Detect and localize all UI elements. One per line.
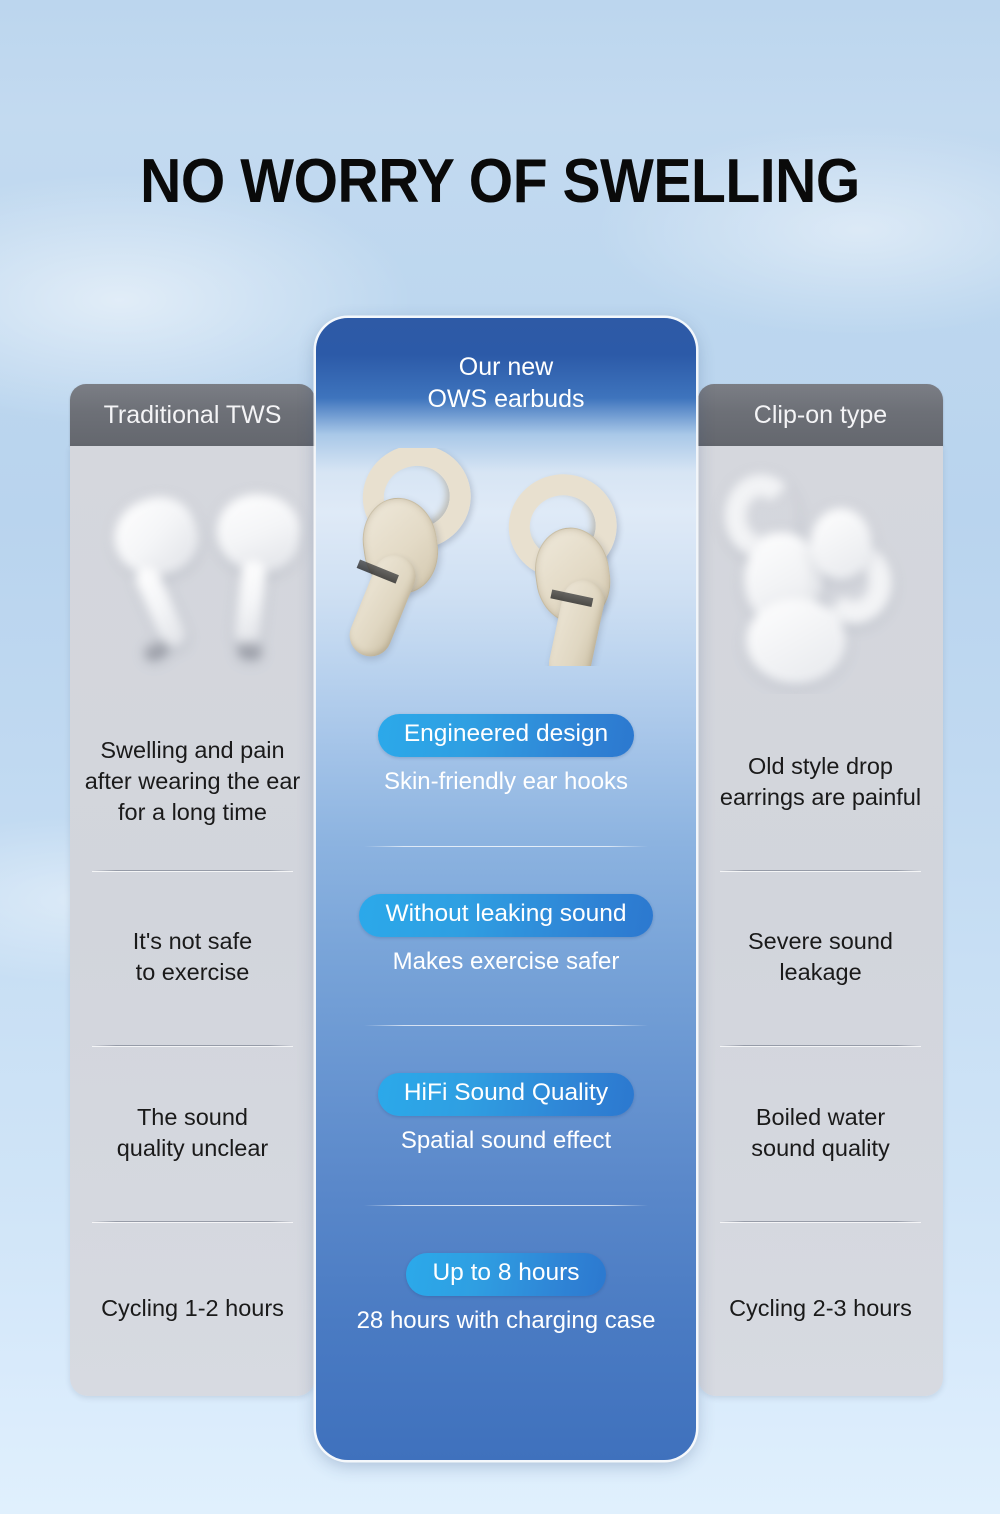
product-image-traditional-tws bbox=[70, 446, 315, 694]
row-text: Boiled water sound quality bbox=[751, 1102, 890, 1164]
product-image-clip-on-type bbox=[698, 446, 943, 694]
feature-row: HiFi Sound Quality Spatial sound effect bbox=[316, 1025, 696, 1205]
column-header-ows-earbuds: Our new OWS earbuds bbox=[316, 318, 696, 448]
feature-subtext: Skin-friendly ear hooks bbox=[384, 768, 628, 797]
column-header-label: Clip-on type bbox=[754, 401, 887, 430]
row-text: Old style drop earrings are painful bbox=[720, 751, 921, 813]
comparison-column-clip-on-type: Clip-on type Old style drop earrings are… bbox=[698, 384, 943, 1396]
column-body-traditional-tws: Swelling and pain after wearing the ear … bbox=[70, 446, 315, 1396]
table-row: Cycling 2-3 hours bbox=[698, 1221, 943, 1397]
column-rows-traditional-tws: Swelling and pain after wearing the ear … bbox=[70, 694, 315, 1396]
column-body-clip-on-type: Old style drop earrings are painful Seve… bbox=[698, 446, 943, 1396]
row-text: Cycling 1-2 hours bbox=[101, 1293, 284, 1324]
table-row: Swelling and pain after wearing the ear … bbox=[70, 694, 315, 870]
feature-subtext: Spatial sound effect bbox=[401, 1127, 611, 1156]
row-text: Cycling 2-3 hours bbox=[729, 1293, 912, 1324]
table-row: It's not safe to exercise bbox=[70, 870, 315, 1046]
card-footer-spacer bbox=[316, 1384, 696, 1460]
column-header-traditional-tws: Traditional TWS bbox=[70, 384, 315, 446]
feature-badge: Up to 8 hours bbox=[406, 1253, 605, 1296]
table-row: Old style drop earrings are painful bbox=[698, 694, 943, 870]
feature-subtext: 28 hours with charging case bbox=[357, 1307, 656, 1336]
feature-badge: Engineered design bbox=[378, 714, 634, 757]
clip-on-earbuds-icon bbox=[698, 446, 943, 694]
column-header-clip-on-type: Clip-on type bbox=[698, 384, 943, 446]
column-rows-clip-on-type: Old style drop earrings are painful Seve… bbox=[698, 694, 943, 1396]
feature-row: Without leaking sound Makes exercise saf… bbox=[316, 846, 696, 1026]
tws-earbuds-icon bbox=[70, 446, 315, 694]
row-text: It's not safe to exercise bbox=[133, 926, 252, 988]
feature-row: Engineered design Skin-friendly ear hook… bbox=[316, 666, 696, 846]
feature-badge: Without leaking sound bbox=[359, 894, 652, 937]
comparison-column-traditional-tws: Traditional TWS Swelling and pain after … bbox=[70, 384, 315, 1396]
table-row: The sound quality unclear bbox=[70, 1045, 315, 1221]
column-rows-ows-earbuds: Engineered design Skin-friendly ear hook… bbox=[316, 666, 696, 1384]
row-text: The sound quality unclear bbox=[117, 1102, 269, 1164]
feature-row: Up to 8 hours 28 hours with charging cas… bbox=[316, 1205, 696, 1385]
row-text: Swelling and pain after wearing the ear … bbox=[85, 735, 301, 828]
column-header-line1: Our new bbox=[459, 351, 553, 384]
page-title: NO WORRY OF SWELLING bbox=[40, 146, 960, 217]
table-row: Cycling 1-2 hours bbox=[70, 1221, 315, 1397]
feature-badge: HiFi Sound Quality bbox=[378, 1073, 634, 1116]
column-header-label: Traditional TWS bbox=[104, 401, 282, 430]
column-header-line2: OWS earbuds bbox=[427, 383, 584, 416]
table-row: Severe sound leakage bbox=[698, 870, 943, 1046]
table-row: Boiled water sound quality bbox=[698, 1045, 943, 1221]
comparison-column-ows-earbuds-featured: Our new OWS earbuds Engineered design Sk… bbox=[316, 318, 696, 1460]
product-image-ows-earbuds bbox=[316, 448, 696, 666]
feature-subtext: Makes exercise safer bbox=[393, 948, 620, 977]
row-text: Severe sound leakage bbox=[748, 926, 893, 988]
